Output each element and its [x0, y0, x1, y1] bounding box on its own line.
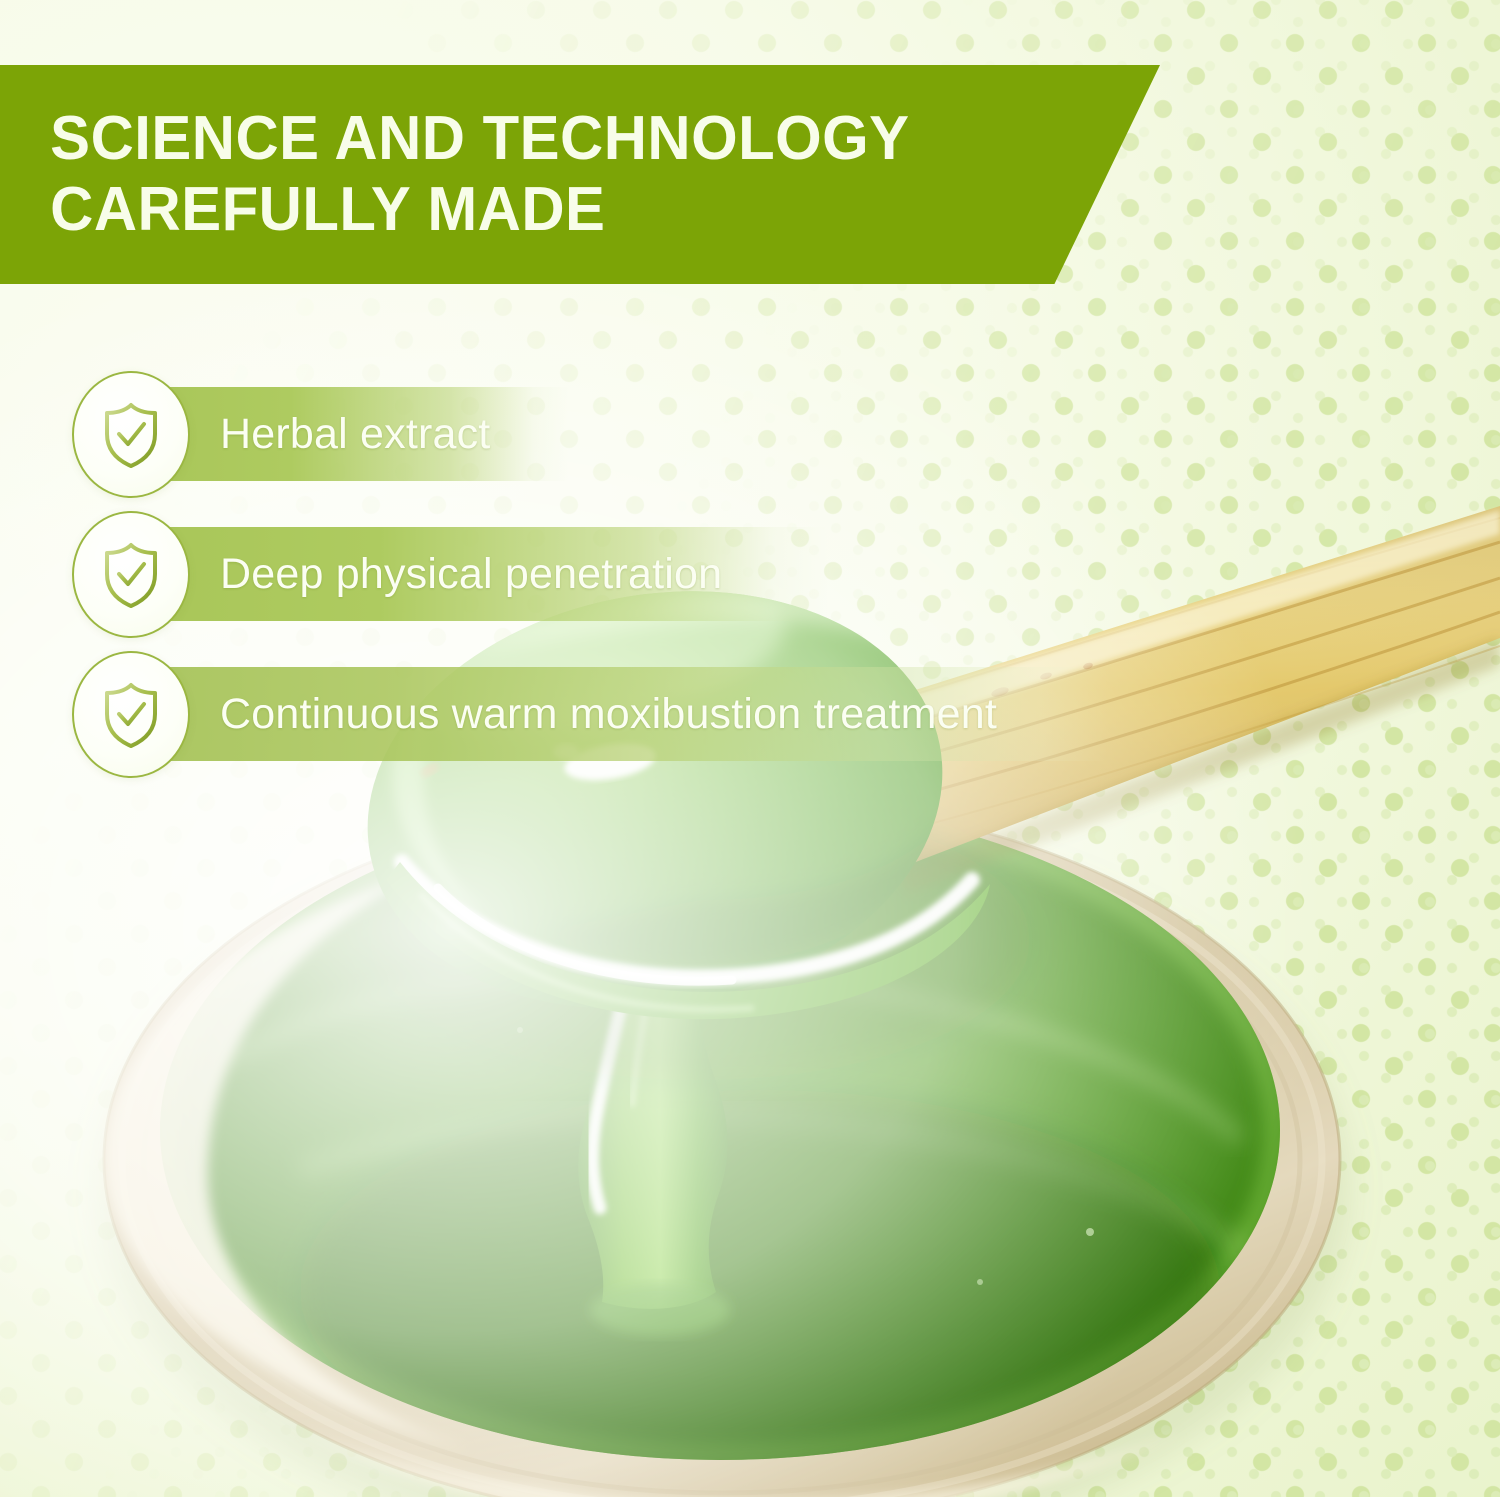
- feature-item-continuous-warm-moxibustion-treatment: Continuous warm moxibustion treatment: [0, 645, 1500, 785]
- product-feature-poster: SCIENCE AND TECHNOLOGY CAREFULLY MADE He…: [0, 0, 1500, 1497]
- banner-title-line-1: SCIENCE AND TECHNOLOGY: [0, 104, 1119, 175]
- feature-label: Deep physical penetration: [148, 550, 722, 599]
- header-banner: SCIENCE AND TECHNOLOGY CAREFULLY MADE: [0, 65, 1160, 284]
- shield-check-badge: [72, 511, 190, 638]
- feature-label: Continuous warm moxibustion treatment: [148, 690, 997, 739]
- feature-bar: Continuous warm moxibustion treatment: [148, 667, 1108, 761]
- feature-list: Herbal extract Deep: [0, 365, 1500, 785]
- shield-check-icon: [98, 680, 164, 750]
- feature-bar: Herbal extract: [148, 387, 568, 481]
- feature-item-herbal-extract: Herbal extract: [0, 365, 1500, 505]
- feature-bar: Deep physical penetration: [148, 527, 828, 621]
- feature-label: Herbal extract: [148, 410, 490, 459]
- shield-check-icon: [98, 400, 164, 470]
- shield-check-badge: [72, 651, 190, 778]
- banner-title-line-2: CAREFULLY MADE: [0, 175, 1119, 246]
- feature-item-deep-physical-penetration: Deep physical penetration: [0, 505, 1500, 645]
- shield-check-icon: [98, 540, 164, 610]
- shield-check-badge: [72, 371, 190, 498]
